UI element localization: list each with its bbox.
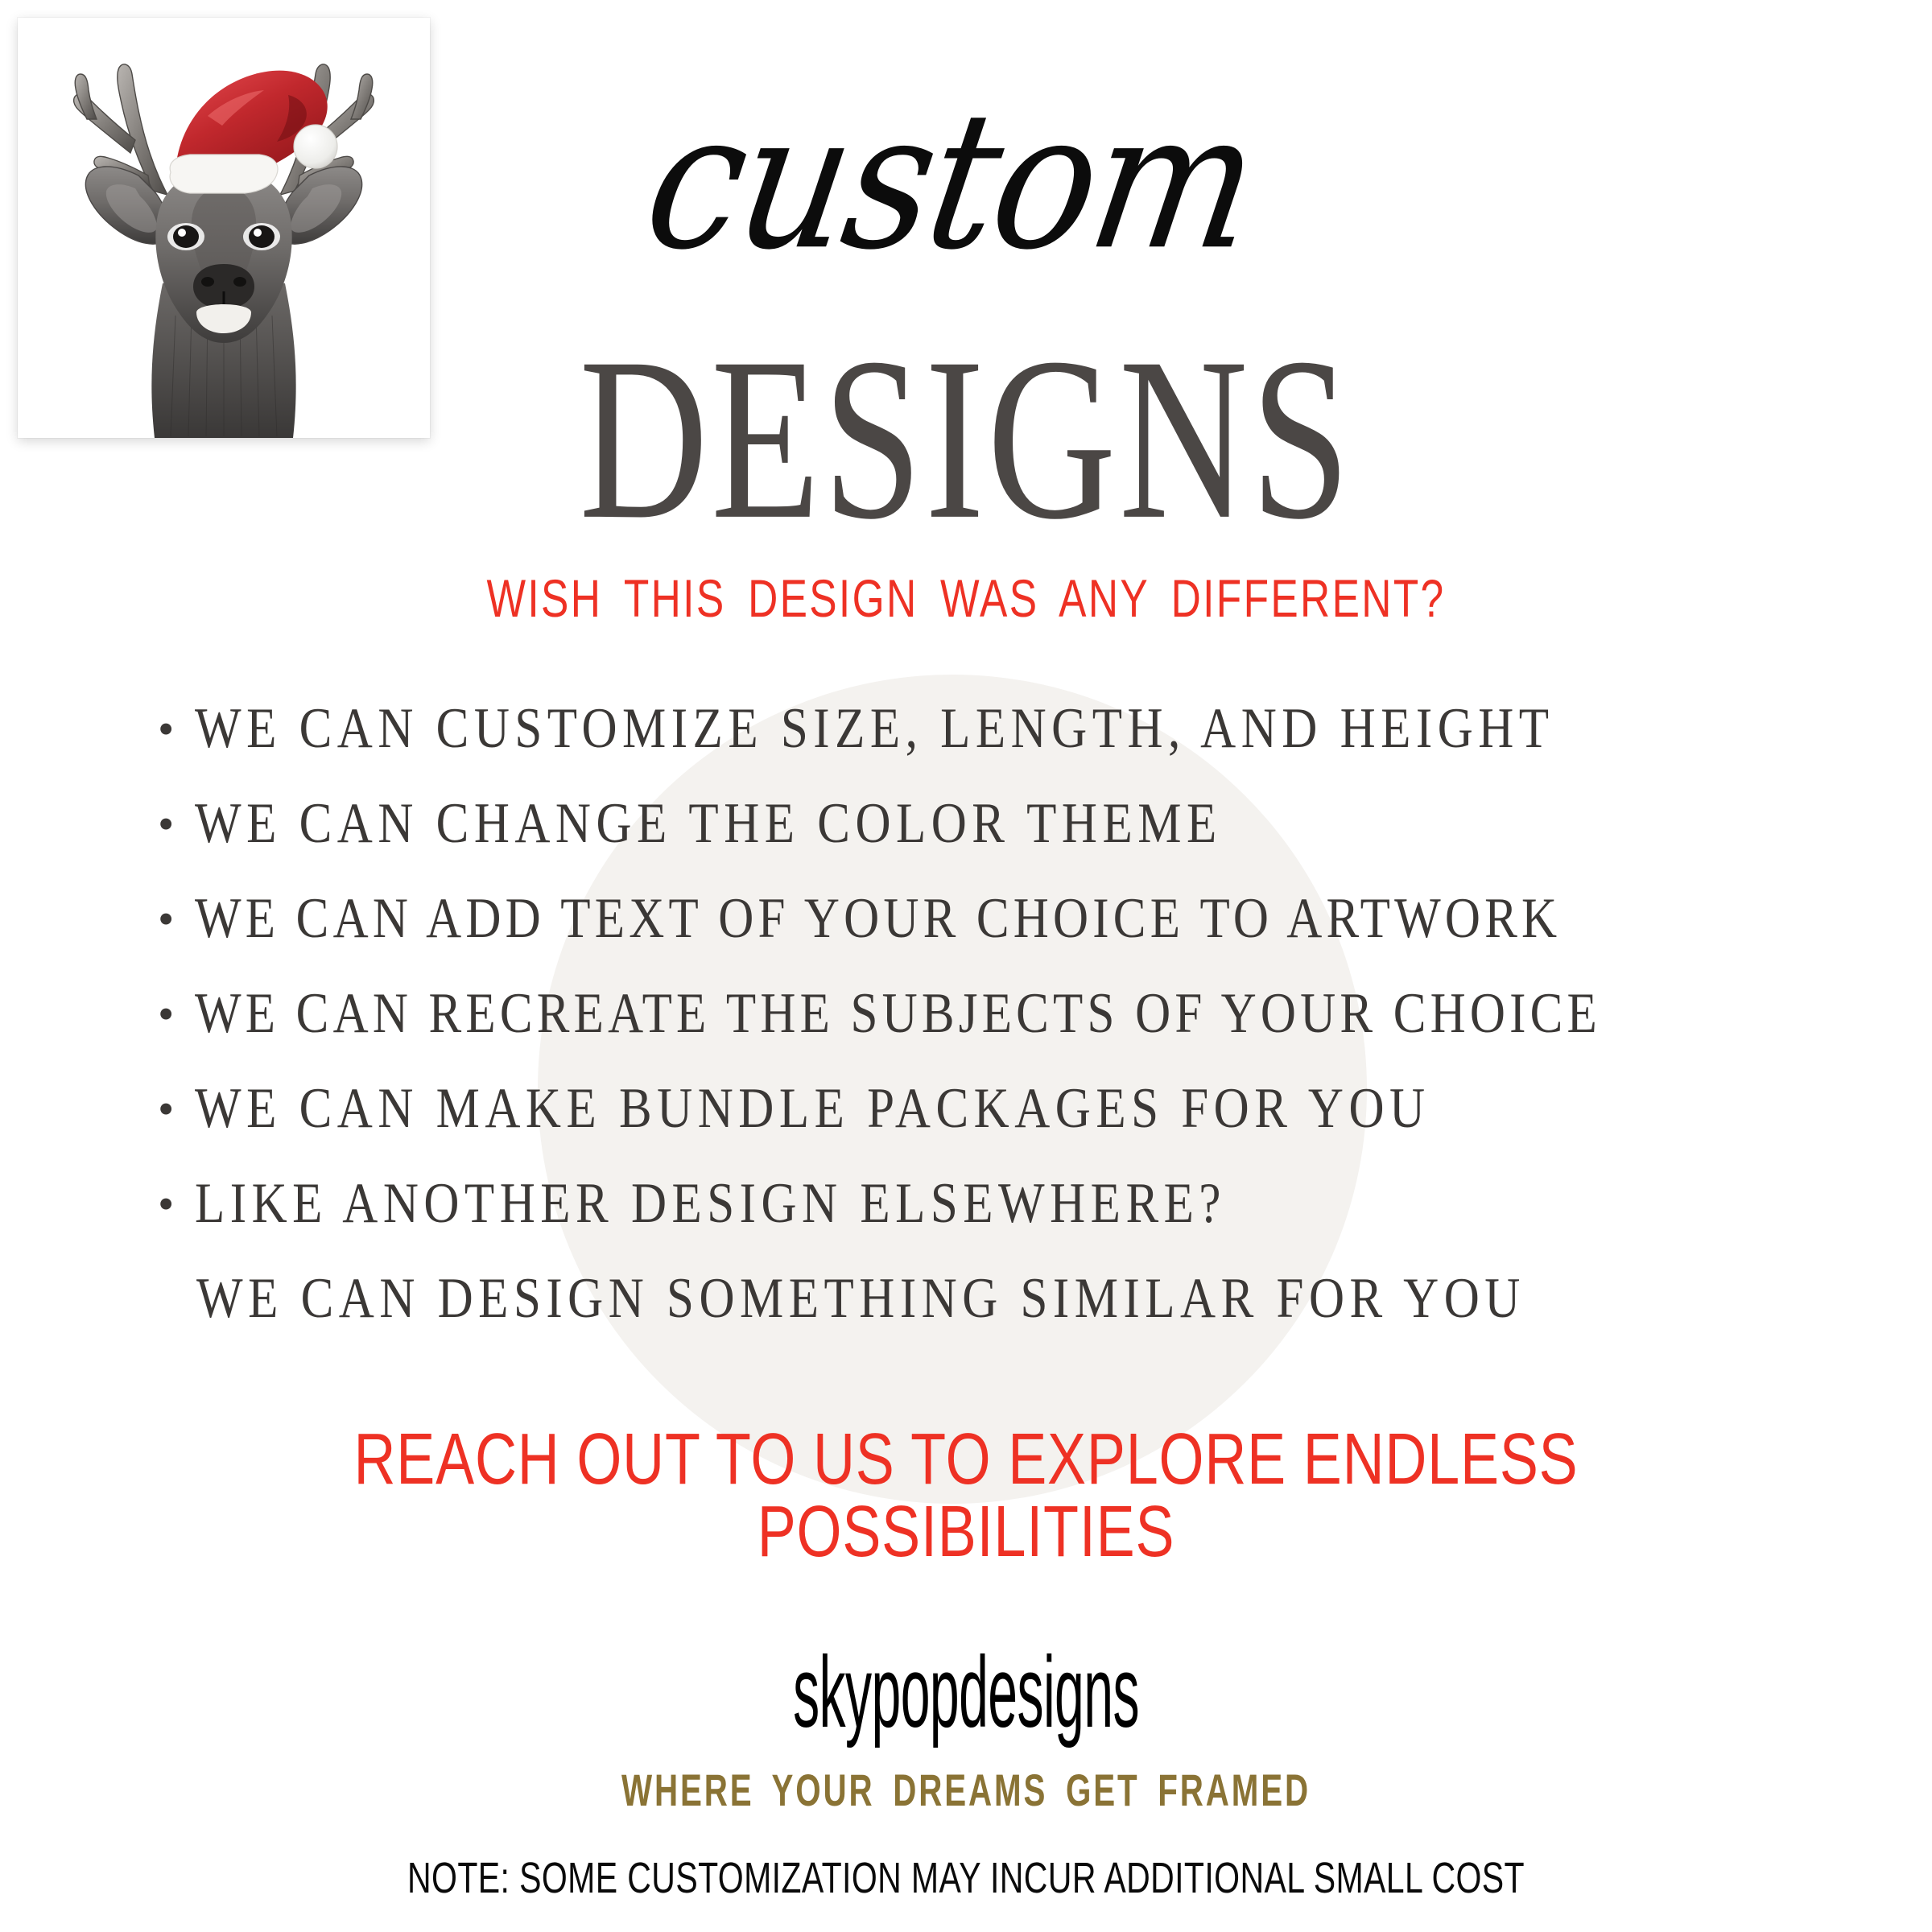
feature-list: • WE CAN CUSTOMIZE SIZE, LENGTH, AND HEI… — [158, 704, 1824, 1369]
deer-eye-right — [249, 225, 275, 248]
list-item: • WE CAN RECREATE THE SUBJECTS OF YOUR C… — [158, 989, 1824, 1084]
artwork-thumbnail[interactable] — [18, 18, 430, 438]
brand-logo-text: skypopdesigns — [425, 1642, 1507, 1743]
bullet-dot-icon: • — [158, 896, 195, 943]
call-to-action-text: REACH OUT TO US TO EXPLORE ENDLESS POSSI… — [193, 1423, 1739, 1568]
santa-hat-brim — [170, 155, 278, 193]
list-item-label: WE CAN RECREATE THE SUBJECTS OF YOUR CHO… — [195, 985, 1824, 1042]
list-item: • WE CAN CHANGE THE COLOR THEME — [158, 799, 1824, 894]
page-subtitle-question: WISH THIS DESIGN WAS ANY DIFFERENT? — [213, 572, 1719, 625]
bullet-dot-icon: • — [158, 801, 195, 848]
bullet-dot-icon: • — [158, 1086, 195, 1133]
list-item-continuation-label: WE CAN DESIGN SOMETHING SIMILAR FOR YOU — [196, 1270, 1824, 1327]
brand-tagline: WHERE YOUR DREAMS GET FRAMED — [270, 1768, 1662, 1813]
list-item: • WE CAN CUSTOMIZE SIZE, LENGTH, AND HEI… — [158, 704, 1824, 799]
list-item-label: WE CAN CUSTOMIZE SIZE, LENGTH, AND HEIGH… — [195, 700, 1824, 758]
santa-hat-deer-illustration — [18, 18, 430, 438]
footnote-disclaimer: NOTE: SOME CUSTOMIZATION MAY INCUR ADDIT… — [232, 1856, 1700, 1900]
deer-eye-left — [173, 225, 199, 248]
list-item: • WE CAN ADD TEXT OF YOUR CHOICE TO ARTW… — [158, 894, 1824, 989]
list-item-label: WE CAN ADD TEXT OF YOUR CHOICE TO ARTWOR… — [195, 890, 1824, 947]
poster-canvas: custom DESIGNS WISH THIS DESIGN WAS ANY … — [0, 0, 1932, 1932]
santa-hat-pompom — [294, 125, 337, 168]
bullet-dot-icon: • — [158, 1181, 195, 1228]
list-item: • LIKE ANOTHER DESIGN ELSEWHERE? — [158, 1179, 1824, 1274]
list-item-label: WE CAN CHANGE THE COLOR THEME — [195, 795, 1824, 852]
list-item-label: LIKE ANOTHER DESIGN ELSEWHERE? — [195, 1175, 1824, 1232]
list-item-continuation: WE CAN DESIGN SOMETHING SIMILAR FOR YOU — [158, 1274, 1824, 1369]
bullet-dot-icon: • — [158, 991, 195, 1038]
bullet-dot-icon: • — [158, 706, 195, 753]
list-item-label: WE CAN MAKE BUNDLE PACKAGES FOR YOU — [195, 1080, 1824, 1137]
list-item: • WE CAN MAKE BUNDLE PACKAGES FOR YOU — [158, 1084, 1824, 1179]
